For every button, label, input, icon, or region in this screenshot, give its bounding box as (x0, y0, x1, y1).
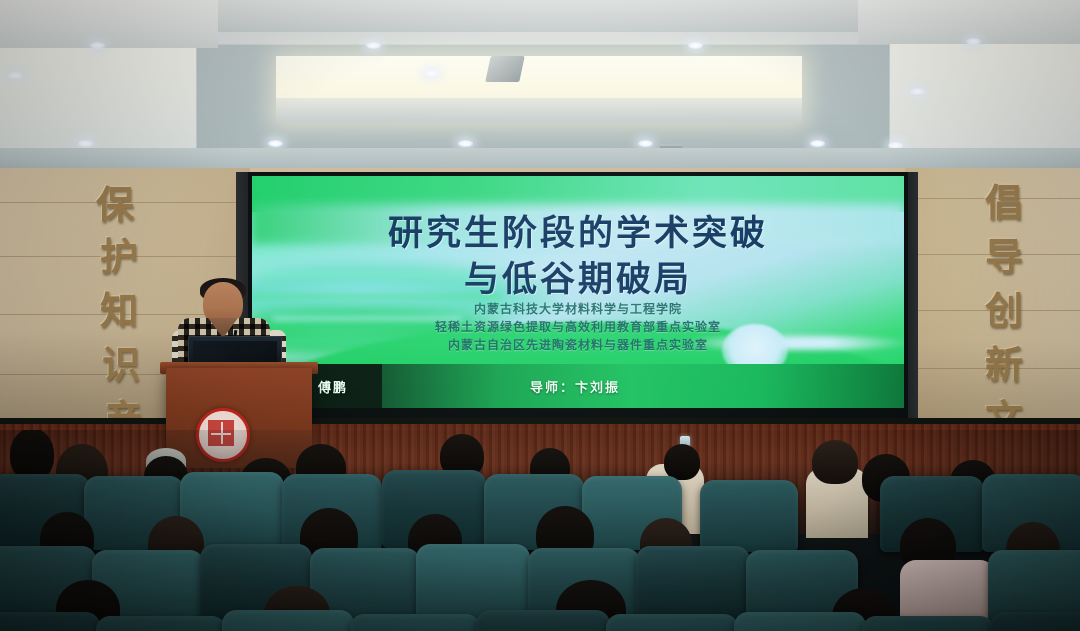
ceiling-coffer-light-well (276, 56, 802, 122)
audience-head (10, 430, 54, 480)
downlight (638, 140, 653, 147)
downlight (966, 38, 981, 45)
calligraphy-char-left-4: 识 (102, 346, 140, 384)
lecture-hall-photo: 保 护 知 识 产 权 倡 导 创 新 文 化 研究生阶段的学术突破 与低谷期破… (0, 0, 1080, 631)
slide-title-line-2: 与低谷期破局 (252, 262, 904, 297)
auditorium-seat (700, 480, 798, 552)
audience-head (664, 444, 700, 480)
ceiling (0, 0, 1080, 172)
ceiling-beam-center (218, 0, 858, 32)
slide-title-line-1: 研究生阶段的学术突破 (252, 216, 904, 251)
downlight (268, 140, 283, 147)
auditorium-seat (990, 612, 1080, 631)
downlight (458, 140, 473, 147)
ceiling-panel-right (886, 38, 1080, 162)
calligraphy-char-left-2: 护 (100, 238, 138, 276)
auditorium-seat (96, 616, 226, 631)
auditorium-seat (606, 614, 738, 631)
downlight (90, 42, 105, 49)
downlight (8, 72, 23, 79)
auditorium-seat (222, 610, 354, 631)
audience-head (812, 440, 858, 484)
calligraphy-char-right-2: 导 (985, 238, 1023, 276)
calligraphy-char-right-3: 创 (985, 292, 1023, 330)
downlight (810, 140, 825, 147)
auditorium-seat (862, 616, 994, 631)
calligraphy-char-right-1: 倡 (985, 184, 1023, 222)
downlight (78, 140, 93, 147)
auditorium-seat (476, 610, 610, 631)
auditorium-seat (734, 612, 866, 631)
ceiling-beam-right (858, 0, 1080, 44)
audience-area (0, 430, 1080, 631)
slide-footer-bar: 人：傅鹏 导师：卞刘振 (252, 364, 904, 408)
ceiling-panel-left (0, 40, 200, 160)
calligraphy-char-left-1: 保 (96, 186, 134, 224)
presentation-screen: 研究生阶段的学术突破 与低谷期破局 内蒙古科技大学材料科学与工程学院 轻稀土资源… (252, 176, 904, 408)
auditorium-seat (350, 614, 480, 631)
downlight (688, 42, 703, 49)
downlight (366, 42, 381, 49)
calligraphy-char-left-3: 知 (100, 292, 138, 330)
downlight (424, 70, 439, 77)
projector-mount (485, 56, 525, 82)
auditorium-seat (0, 612, 100, 631)
slide-footer-advisor: 导师：卞刘振 (530, 377, 620, 396)
slide-affiliation-1: 内蒙古科技大学材料科学与工程学院 (252, 300, 904, 317)
calligraphy-char-right-4: 新 (985, 346, 1023, 384)
slide-affiliation-2: 轻稀土资源绿色提取与高效利用教育部重点实验室 (252, 318, 904, 335)
ceiling-beam-left (0, 0, 218, 48)
slide-affiliation-3: 内蒙古自治区先进陶瓷材料与器件重点实验室 (252, 336, 904, 353)
downlight (910, 88, 925, 95)
